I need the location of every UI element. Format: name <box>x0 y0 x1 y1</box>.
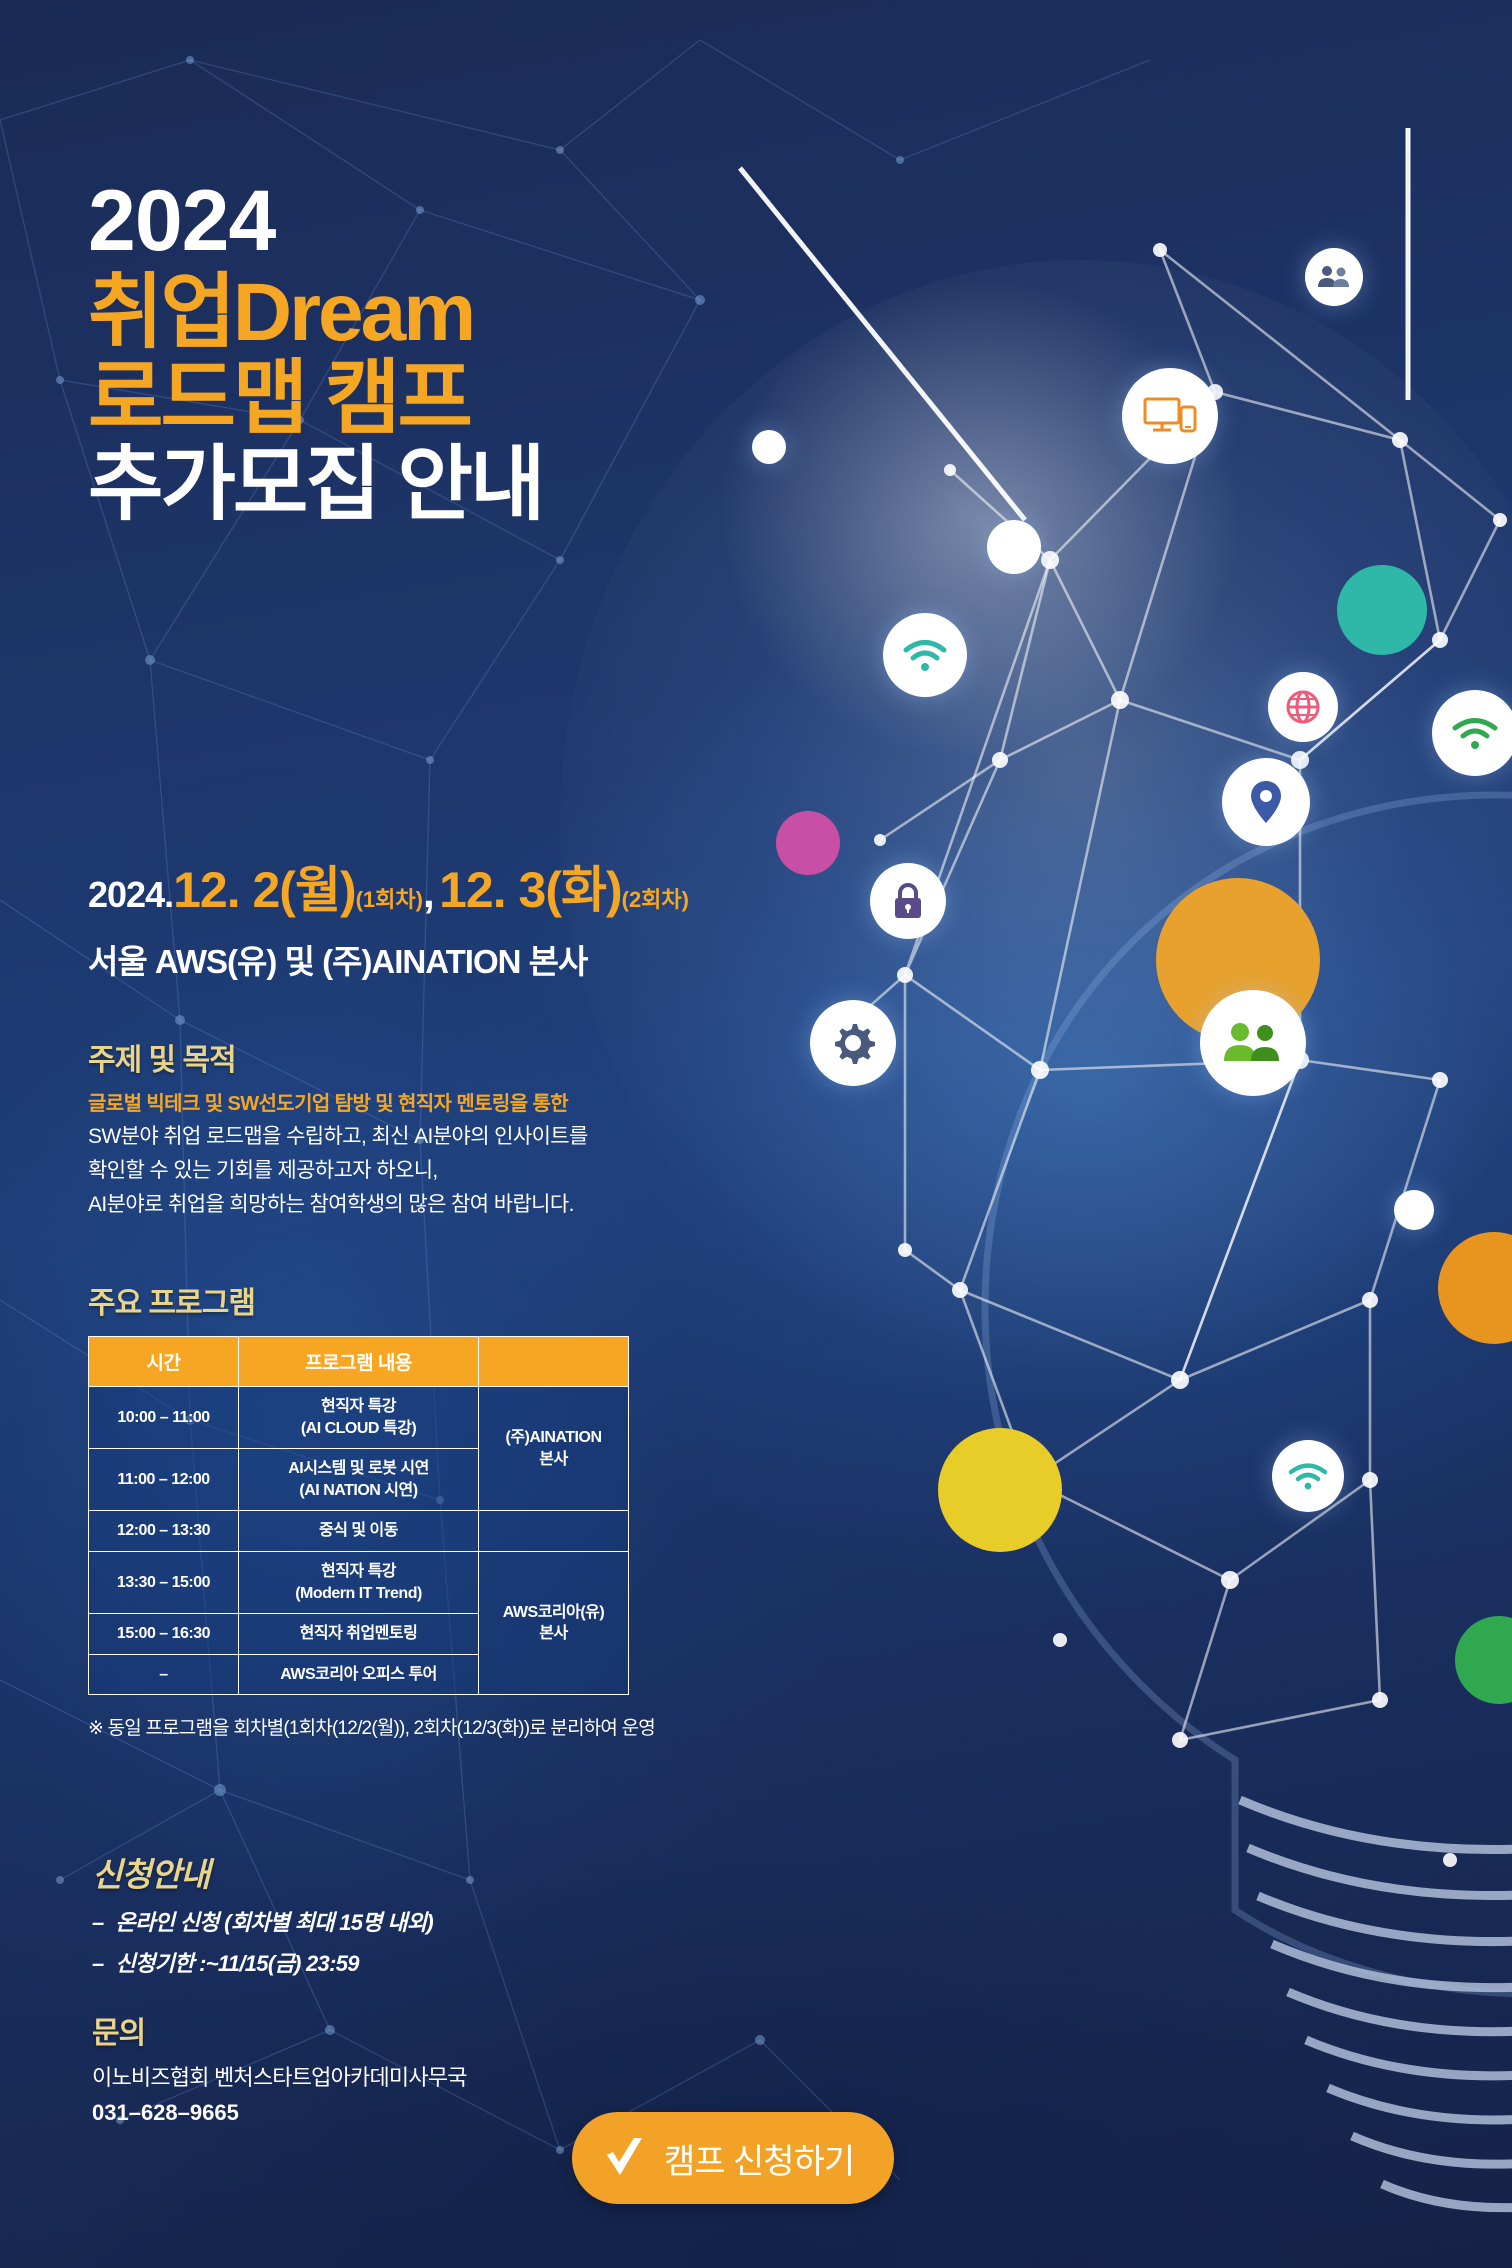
apply-dash: – <box>92 1910 104 1935</box>
cell-time: 11:00 – 12:00 <box>89 1449 239 1511</box>
bulb-icon-cluster <box>692 0 1512 2268</box>
cell-place: (주)AINATION 본사 <box>479 1387 629 1511</box>
purpose-line-2: 확인할 수 있는 기회를 제공하고자 하오니, <box>88 1154 728 1188</box>
check-icon <box>602 2135 646 2181</box>
people-icon-small <box>1305 248 1363 306</box>
program-section: 주요 프로그램 시간 프로그램 내용 10:00 – 11:00 <box>88 1278 708 1740</box>
apply-camp-label: 캠프 신청하기 <box>664 2134 854 2183</box>
cell-program: 중식 및 이동 <box>239 1511 479 1552</box>
cell-time: – <box>89 1654 239 1695</box>
node-white-plain-a <box>987 520 1041 574</box>
node-white-plain-c <box>1394 1190 1434 1230</box>
purpose-line-3: AI분야로 취업을 희망하는 참여학생의 많은 참여 바랍니다. <box>88 1188 728 1222</box>
program-note: ※ 동일 프로그램을 회차별(1회차(12/2(월)), 2회차(12/3(화)… <box>88 1713 708 1740</box>
cell-program-line: (AI CLOUD 특강) <box>301 1420 416 1437</box>
date-first: 12. 2(월) <box>173 862 356 918</box>
cell-program: 현직자 취업멘토링 <box>239 1614 479 1655</box>
wifi-icon-right <box>1432 690 1512 776</box>
col-header-program: 프로그램 내용 <box>239 1337 479 1387</box>
col-header-place <box>479 1337 629 1387</box>
cell-program-line: 현직자 특강 <box>321 1398 396 1415</box>
table-row: 13:30 – 15:00 현직자 특강 (Modern IT Trend) A… <box>89 1551 629 1613</box>
program-table: 시간 프로그램 내용 10:00 – 11:00 현직자 특강 (AI CLOU… <box>88 1336 629 1695</box>
wifi-icon-bottom <box>1272 1440 1344 1512</box>
apply-item: –신청기한 :~11/15(금) 23:59 <box>92 1946 732 1978</box>
apply-item-text: 온라인 신청 (회차별 최대 15명 내외) <box>116 1910 433 1935</box>
apply-camp-button[interactable]: 캠프 신청하기 <box>572 2112 894 2204</box>
people-group-icon-large <box>1200 990 1306 1096</box>
program-heading: 주요 프로그램 <box>88 1278 708 1322</box>
poster-title: 취업Dream 로드맵 캠프 추가모집 안내 <box>88 270 542 528</box>
cell-program: AWS코리아 오피스 투어 <box>239 1654 479 1695</box>
apply-item-text: 신청기한 :~11/15(금) 23:59 <box>116 1951 359 1976</box>
apply-dash: – <box>92 1951 104 1976</box>
cell-place-empty <box>479 1511 629 1552</box>
globe-icon <box>1268 672 1338 742</box>
date-second-session: (2회차) <box>622 887 689 912</box>
purpose-highlight: 글로벌 빅테크 및 SW선도기업 탐방 및 현직자 멘토링을 통한 <box>88 1089 728 1120</box>
cell-place-line: 본사 <box>539 1625 567 1642</box>
cell-program-line: 현직자 특강 <box>321 1563 396 1580</box>
contact-section: 문의 이노비즈협회 벤처스타트업아카데미사무국 031–628–9665 <box>92 2008 732 2126</box>
monitor-mobile-icon <box>1122 368 1218 464</box>
location-pin-icon <box>1222 758 1310 846</box>
table-header-row: 시간 프로그램 내용 <box>89 1337 629 1387</box>
cell-place: AWS코리아(유) 본사 <box>479 1551 629 1694</box>
lock-icon <box>870 863 946 939</box>
purpose-heading: 주제 및 목적 <box>88 1035 728 1079</box>
cell-place-line: (주)AINATION <box>505 1429 601 1446</box>
cell-program-line: (AI NATION 시연) <box>299 1482 417 1499</box>
cell-time: 12:00 – 13:30 <box>89 1511 239 1552</box>
poster-canvas: 2024 취업Dream 로드맵 캠프 추가모집 안내 2024.12. 2(월… <box>0 0 1512 2268</box>
title-line-1: 취업Dream <box>88 270 542 356</box>
cell-program-line: (Modern IT Trend) <box>295 1585 422 1602</box>
event-dates: 2024.12. 2(월)(1회차), 12. 3(화)(2회차) <box>88 865 689 915</box>
date-second: 12. 3(화) <box>439 862 622 918</box>
contact-heading: 문의 <box>92 2008 732 2052</box>
cell-program: 현직자 특강 (AI CLOUD 특강) <box>239 1387 479 1449</box>
cell-time: 15:00 – 16:30 <box>89 1614 239 1655</box>
year-label: 2024 <box>88 178 275 264</box>
date-first-session: (1회차) <box>356 887 423 912</box>
title-line-2: 로드맵 캠프 <box>88 356 542 442</box>
gear-icon <box>810 1000 896 1086</box>
apply-heading: 신청안내 <box>92 1848 732 1896</box>
contact-org: 이노비즈협회 벤처스타트업아카데미사무국 <box>92 2060 732 2092</box>
node-white-plain-b <box>752 430 786 464</box>
purpose-section: 주제 및 목적 글로벌 빅테크 및 SW선도기업 탐방 및 현직자 멘토링을 통… <box>88 1035 728 1222</box>
cell-time: 10:00 – 11:00 <box>89 1387 239 1449</box>
cell-place-line: AWS코리아(유) <box>503 1604 604 1621</box>
purpose-line-1: SW분야 취업 로드맵을 수립하고, 최신 AI분야의 인사이트를 <box>88 1120 728 1154</box>
cell-place-line: 본사 <box>539 1451 567 1468</box>
title-line-3: 추가모집 안내 <box>88 442 542 528</box>
cell-program-line: AI시스템 및 로봇 시연 <box>288 1460 429 1477</box>
table-row: 10:00 – 11:00 현직자 특강 (AI CLOUD 특강) (주)AI… <box>89 1387 629 1449</box>
cell-program: 현직자 특강 (Modern IT Trend) <box>239 1551 479 1613</box>
date-separator: , <box>423 869 435 916</box>
cell-program: AI시스템 및 로봇 시연 (AI NATION 시연) <box>239 1449 479 1511</box>
table-row: 12:00 – 13:30 중식 및 이동 <box>89 1511 629 1552</box>
poster-text-column: 2024 취업Dream 로드맵 캠프 추가모집 안내 2024.12. 2(월… <box>0 0 740 2268</box>
col-header-time: 시간 <box>89 1337 239 1387</box>
venue-label: 서울 AWS(유) 및 (주)AINATION 본사 <box>88 935 587 983</box>
cell-time: 13:30 – 15:00 <box>89 1551 239 1613</box>
wifi-icon-left <box>883 613 967 697</box>
date-year-prefix: 2024. <box>88 874 173 915</box>
apply-item: –온라인 신청 (회차별 최대 15명 내외) <box>92 1905 732 1937</box>
apply-section: 신청안내 –온라인 신청 (회차별 최대 15명 내외) –신청기한 :~11/… <box>92 1848 732 1978</box>
